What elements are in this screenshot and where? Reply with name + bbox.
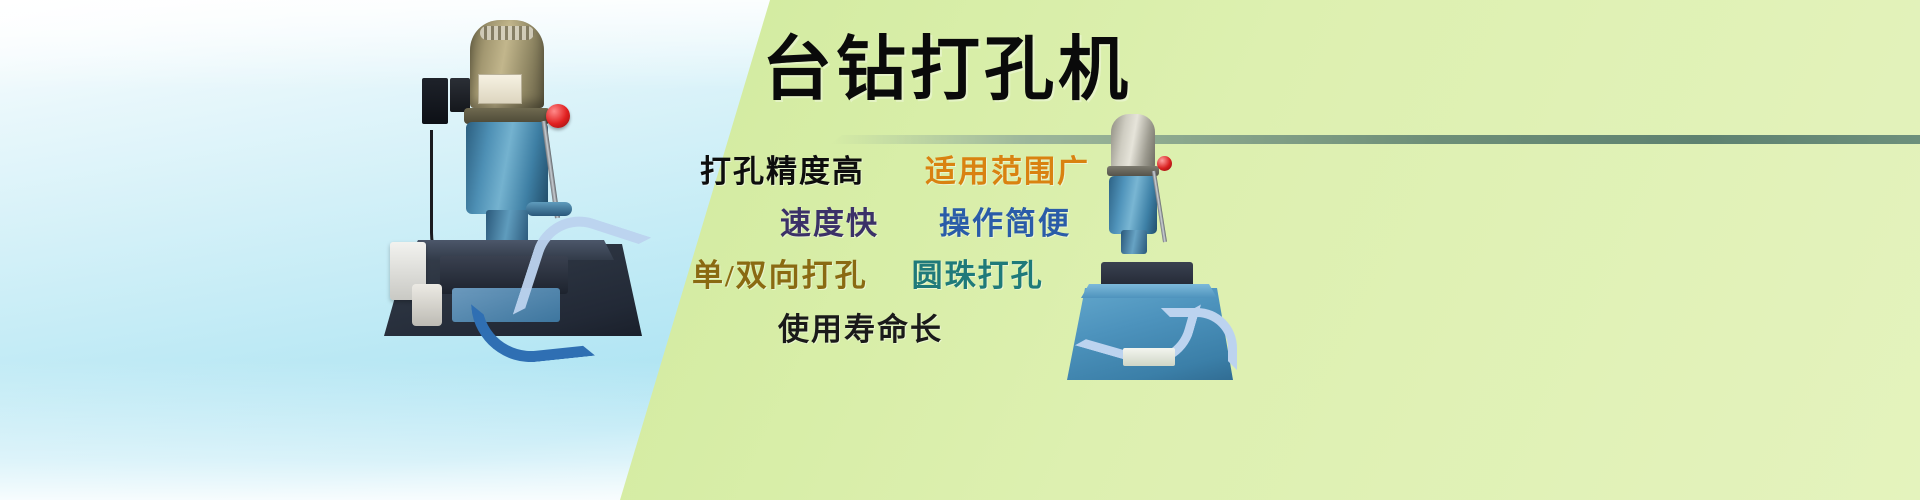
left-machine-photo — [378, 12, 648, 360]
blue-hose — [471, 292, 595, 368]
feature-row-2: 速度快 操作简便 — [780, 198, 1071, 243]
motor-vent — [480, 26, 534, 40]
lever-knob — [546, 104, 570, 128]
feature-row-3: 单/双向打孔 圆珠打孔 — [692, 250, 1044, 295]
feature-text-bead-drilling: 圆珠打孔 — [912, 250, 1044, 295]
feature-text-drilling-accuracy: 打孔精度高 — [700, 146, 865, 191]
feature-row-4: 使用寿命长 — [778, 304, 943, 349]
quill-assembly-small — [1121, 230, 1147, 254]
feature-text-easy-operation: 操作简便 — [939, 198, 1071, 243]
drill-head-body — [466, 122, 548, 214]
motor-junction-box — [422, 78, 448, 124]
base-label-small — [1123, 348, 1175, 366]
pedal-box — [412, 284, 442, 326]
feature-row-1: 打孔精度高 适用范围广 — [700, 146, 1090, 191]
motor-housing-small — [1111, 114, 1155, 168]
feature-text-long-service-life: 使用寿命长 — [778, 304, 943, 349]
lever-knob-small — [1157, 156, 1172, 171]
terminal-plate — [450, 78, 470, 112]
title-divider-rule — [830, 135, 1920, 144]
banner-title: 台钻打孔机 — [762, 36, 1132, 106]
right-machine-photo — [1065, 112, 1235, 402]
motor-label — [478, 74, 522, 104]
feature-text-fast-speed: 速度快 — [780, 198, 879, 243]
product-banner: 台钻打孔机 打孔精度高 适用范围广 速度快 操作简便 单/双向打孔 圆珠打孔 使… — [0, 0, 1920, 500]
drill-head-body-small — [1109, 176, 1157, 234]
feature-text-single-double-drilling: 单/双向打孔 — [692, 250, 868, 295]
depth-stop-arm — [526, 202, 572, 216]
